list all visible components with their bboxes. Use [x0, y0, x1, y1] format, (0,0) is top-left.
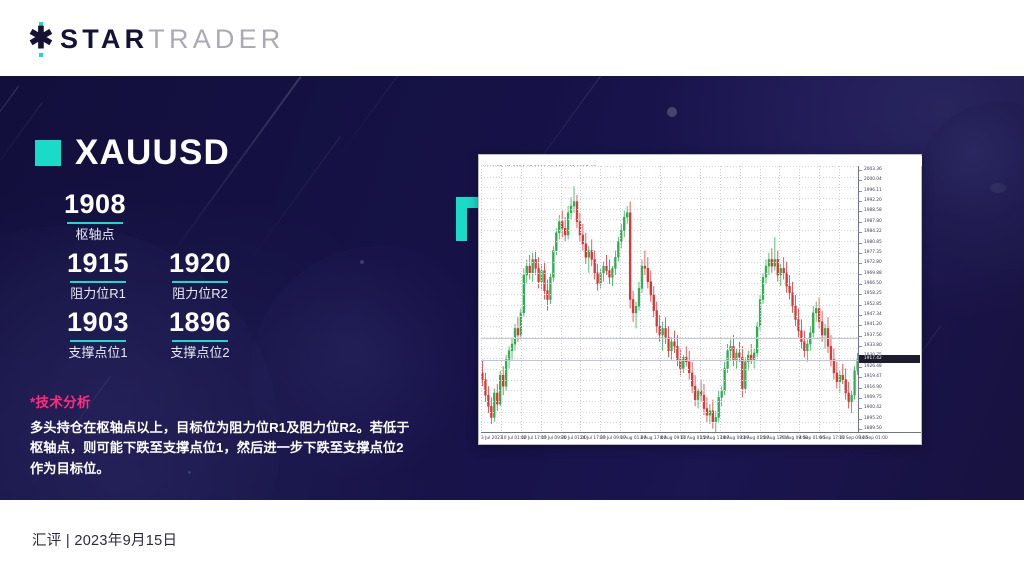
chart-price-tick: 1919.47: [859, 373, 920, 381]
chart-gridline-vertical: [680, 166, 681, 433]
chart-price-tickmark: [859, 170, 862, 171]
chart-price-tickmark: [859, 222, 862, 223]
chart-gridline-horizontal: [481, 380, 859, 381]
chart-price-tick: 1980.85: [859, 239, 920, 247]
stat-pivot-value: 1908: [35, 190, 155, 218]
chart-price-tick: 1916.90: [859, 384, 920, 392]
chart-gridline-horizontal: [481, 187, 859, 188]
chart-gridline-horizontal: [481, 412, 859, 413]
decor-streak-1: [0, 86, 19, 208]
chart-price-tickmark: [859, 211, 862, 212]
stat-resistance2-label: 阻力位R2: [140, 286, 260, 302]
brand-name-secondary: TRADER: [148, 24, 284, 54]
chart-price-tick: 1969.88: [859, 270, 920, 278]
chart-gridline-horizontal: [481, 209, 859, 210]
chart-price-tickmark: [859, 232, 862, 233]
chart-price-tickmark: [859, 408, 862, 409]
chart-gridline-horizontal: [481, 358, 859, 359]
chart-gridline-horizontal: [481, 390, 859, 391]
stat-support2: 1896 支撑点位2: [140, 308, 260, 361]
chart-gridline-vertical: [819, 166, 820, 433]
chart-gridline-horizontal: [481, 273, 859, 274]
chart-price-tickmark: [859, 419, 862, 420]
chart-gridline-horizontal: [481, 422, 859, 423]
chart-time-tick: 3 Jul 2023: [481, 434, 503, 443]
decor-planet: [916, 102, 1024, 270]
chart-price-tickmark: [859, 191, 862, 192]
chart-reference-line: [481, 360, 859, 361]
chart-gridline-horizontal: [481, 198, 859, 199]
decor-streak-4: [246, 136, 341, 266]
chart-price-tickmark: [859, 377, 862, 378]
chart-price-tick: 1933.80: [859, 342, 920, 350]
chart-gridline-vertical: [620, 166, 621, 433]
chart-price-tickmark: [859, 180, 862, 181]
chart-price-tickmark: [859, 294, 862, 295]
chart-time-tick: 14 Sep 01:00: [859, 434, 888, 443]
chart-price-tick: 1937.56: [859, 332, 920, 340]
chart-gridline-horizontal: [481, 348, 859, 349]
chart-gridline-horizontal: [481, 241, 859, 242]
chart-price-tick: 1992.20: [859, 197, 920, 205]
stat-resistance2-underline: [172, 281, 228, 283]
chart-price-tickmark: [859, 243, 862, 244]
chart-price-tickmark: [859, 253, 862, 254]
chart-price-tickmark: [859, 263, 862, 264]
chart-gridline-vertical: [740, 166, 741, 433]
chart-gridline-vertical: [660, 166, 661, 433]
stat-support2-underline: [172, 340, 228, 342]
star-asterisk-icon: ✱: [26, 24, 56, 54]
chart-gridline-vertical: [760, 166, 761, 433]
chart-gridline-horizontal: [481, 166, 859, 167]
chart-gridline-vertical: [779, 166, 780, 433]
chart-price-tickmark: [859, 305, 862, 306]
chart-gridline-vertical: [720, 166, 721, 433]
asterisk-glyph: ✱: [26, 26, 56, 52]
chart-price-tick: 1941.20: [859, 321, 920, 329]
chart-gridline-horizontal: [481, 305, 859, 306]
chart-price-tick: 1984.22: [859, 228, 920, 236]
brand-logo[interactable]: ✱ STARTRADER: [26, 27, 285, 51]
stat-resistance1-underline: [70, 281, 126, 283]
chart-price-tickmark: [859, 429, 862, 430]
chart-gridline-horizontal: [481, 219, 859, 220]
technical-analysis-body: 多头持仓在枢轴点以上，目标位为阻力位R1及阻力位R2。若低于枢轴点，则可能下跌至…: [30, 418, 410, 479]
chart-gridline-horizontal: [481, 262, 859, 263]
technical-analysis-title: *技术分析: [30, 391, 410, 411]
price-chart-panel[interactable]: XAUUSD,H1 1916.07 1918.33 1914.62 1917.8…: [478, 154, 922, 445]
chart-gridline-vertical: [700, 166, 701, 433]
chart-plot-area[interactable]: [481, 166, 859, 433]
footer-caption: 汇评 | 2023年9月15日: [32, 529, 177, 550]
chart-gridline-vertical: [561, 166, 562, 433]
chart-price-tick: 2000.04: [859, 176, 920, 184]
hero-stage: XAUUSD 1908 枢轴点 1915 阻力位R1 1920 阻力位R2 19…: [0, 76, 1024, 500]
candlestick-series: [481, 166, 859, 433]
chart-gridline-horizontal: [481, 369, 859, 370]
chart-price-tickmark: [859, 325, 862, 326]
stat-support1-underline: [70, 340, 126, 342]
chart-price-tick: 1895.20: [859, 415, 920, 423]
decor-dot-2: [360, 260, 364, 264]
chart-price-tick: 2003.36: [859, 166, 920, 174]
chart-price-tick: 1947.34: [859, 311, 920, 319]
chart-price-tickmark: [859, 284, 862, 285]
decor-streak-8: [333, 76, 404, 164]
chart-gridline-horizontal: [481, 316, 859, 317]
chart-price-tick: 1958.25: [859, 290, 920, 298]
symbol-accent-square: [35, 140, 61, 166]
chart-gridline-vertical: [839, 166, 840, 433]
stat-support2-label: 支撑点位2: [140, 345, 260, 361]
chart-price-tick: 1988.58: [859, 207, 920, 215]
stat-pivot: 1908 枢轴点: [35, 190, 155, 243]
chart-gridline-vertical: [640, 166, 641, 433]
stat-pivot-label: 枢轴点: [35, 227, 155, 243]
chart-gridline-horizontal: [481, 230, 859, 231]
chart-gridline-horizontal: [481, 401, 859, 402]
chart-price-tick: 1972.80: [859, 259, 920, 267]
page-header: ✱ STARTRADER: [0, 0, 1024, 76]
chart-price-tick: 1909.75: [859, 394, 920, 402]
stat-resistance2: 1920 阻力位R2: [140, 249, 260, 302]
symbol-heading: XAUUSD: [35, 135, 230, 170]
chart-price-tick: 1926.48: [859, 363, 920, 371]
page-title: XAUUSD: [75, 135, 230, 170]
chart-price-tickmark: [859, 398, 862, 399]
chart-price-tick: 1966.50: [859, 280, 920, 288]
chart-price-tick: 1996.11: [859, 187, 920, 195]
chart-price-tick: 1987.80: [859, 218, 920, 226]
chart-current-price-label: 1917.42: [859, 355, 920, 363]
chart-gridline-horizontal: [481, 326, 859, 327]
chart-gridline-horizontal: [481, 177, 859, 178]
chart-gridline-vertical: [600, 166, 601, 433]
chart-title-bar: XAUUSD,H1 1916.07 1918.33 1914.62 1917.8…: [480, 156, 922, 166]
logo-accent-square-bottom: [39, 53, 43, 57]
chart-gridline-vertical: [799, 166, 800, 433]
stat-support2-value: 1896: [140, 308, 260, 336]
chart-gridline-vertical: [580, 166, 581, 433]
technical-analysis-block: *技术分析 多头持仓在枢轴点以上，目标位为阻力位R1及阻力位R2。若低于枢轴点，…: [30, 391, 410, 479]
chart-price-tickmark: [859, 336, 862, 337]
brand-name: STARTRADER: [60, 26, 285, 53]
chart-gridline-horizontal: [481, 251, 859, 252]
chart-gridline-vertical: [481, 166, 482, 433]
stat-pivot-underline: [67, 222, 123, 224]
chart-reference-line: [481, 338, 859, 339]
chart-price-tickmark: [859, 367, 862, 368]
chart-price-tickmark: [859, 346, 862, 347]
chart-gridline-horizontal: [481, 283, 859, 284]
stat-resistance2-value: 1920: [140, 249, 260, 277]
chart-price-tick: 1952.85: [859, 301, 920, 309]
chart-price-tickmark: [859, 274, 862, 275]
chart-price-tickmark: [859, 388, 862, 389]
chart-time-axis: 3 Jul 202310 Jul 01:0012 Jul 17:0017 Jul…: [481, 432, 921, 443]
chart-price-tickmark: [859, 315, 862, 316]
page-footer: 汇评 | 2023年9月15日: [0, 500, 1024, 576]
chart-price-tick: 1900.42: [859, 404, 920, 412]
brand-name-primary: STAR: [60, 24, 148, 54]
chart-gridline-horizontal: [481, 294, 859, 295]
chart-price-tickmark: [859, 201, 862, 202]
chart-price-tick: 1977.35: [859, 249, 920, 257]
chart-gridline-vertical: [501, 166, 502, 433]
chart-price-axis: 2003.362000.041996.111992.201988.581987.…: [858, 166, 920, 433]
chart-gridline-vertical: [521, 166, 522, 433]
chart-gridline-vertical: [541, 166, 542, 433]
decor-dot-1: [667, 107, 677, 117]
